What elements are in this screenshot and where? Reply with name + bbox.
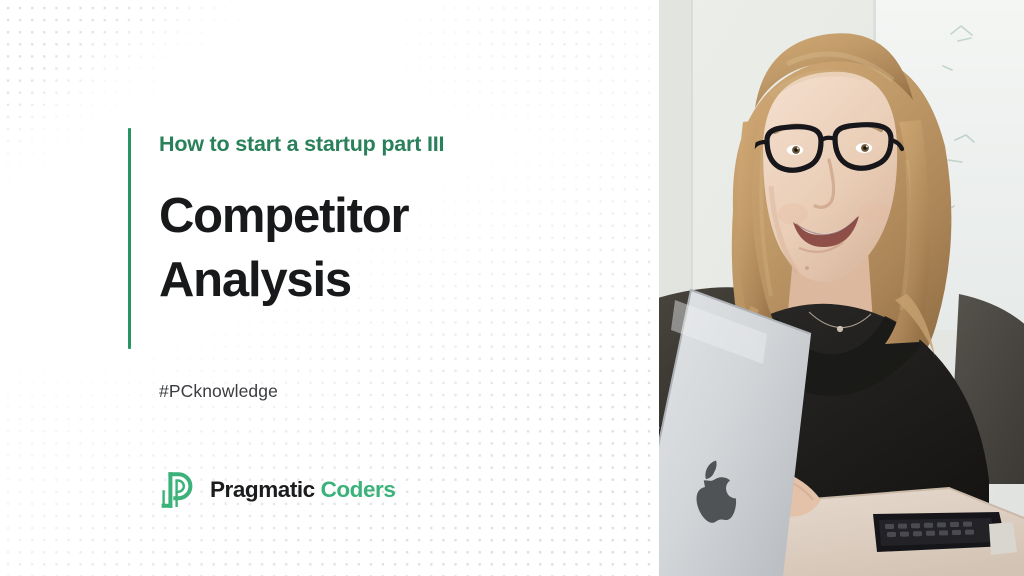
- eyebrow-text: How to start a startup part III: [159, 132, 629, 157]
- pragmatic-coders-p-mark-icon: [157, 470, 197, 510]
- title-block: How to start a startup part III Competit…: [159, 132, 629, 313]
- brand-wordmark-accent: Coders: [321, 477, 396, 502]
- left-content-panel: How to start a startup part III Competit…: [0, 0, 660, 576]
- slide-canvas: How to start a startup part III Competit…: [0, 0, 1024, 576]
- brand-logo-lockup: Pragmatic Coders: [157, 470, 395, 510]
- page-title-line-2: Analysis: [159, 248, 629, 313]
- hashtag-text: #PCknowledge: [159, 381, 278, 402]
- page-title: Competitor Analysis: [159, 184, 629, 313]
- accent-rule: [128, 128, 131, 349]
- hero-photo: [659, 0, 1024, 576]
- brand-wordmark-primary: Pragmatic: [210, 477, 315, 502]
- page-title-line-1: Competitor: [159, 184, 629, 249]
- brand-wordmark: Pragmatic Coders: [210, 479, 395, 502]
